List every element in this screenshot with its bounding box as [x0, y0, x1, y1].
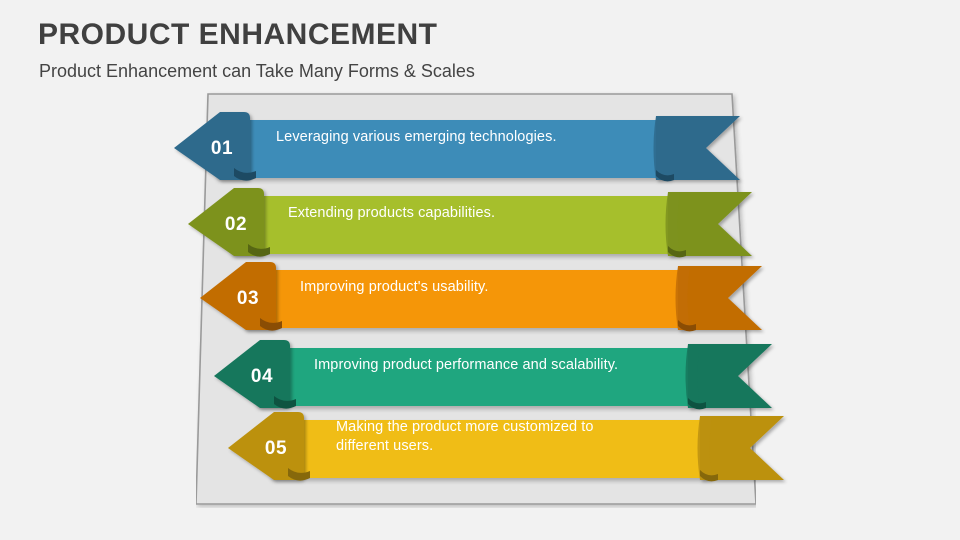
- ribbon-text: Improving product performance and scalab…: [314, 336, 690, 394]
- ribbon-number: 01: [172, 108, 258, 190]
- ribbon-number-badge[interactable]: 05: [226, 408, 312, 490]
- ribbon-row[interactable]: 04 Improving product performance and sca…: [212, 336, 760, 414]
- ribbon-row[interactable]: 03 Improving product's usability.: [198, 258, 752, 336]
- slide-canvas: PRODUCT ENHANCEMENT Product Enhancement …: [0, 0, 960, 540]
- ribbon-text: Leveraging various emerging technologies…: [276, 108, 662, 166]
- ribbon-number: 04: [212, 336, 298, 418]
- ribbon-number: 05: [226, 408, 312, 490]
- page-title: PRODUCT ENHANCEMENT: [38, 18, 438, 52]
- ribbon-number: 03: [198, 258, 284, 340]
- ribbon-number-badge[interactable]: 01: [172, 108, 258, 190]
- ribbon-text: Extending products capabilities.: [288, 184, 672, 242]
- ribbon-number-badge[interactable]: 02: [186, 184, 272, 266]
- ribbon-tail: [662, 184, 772, 268]
- ribbon-text: Improving product's usability.: [300, 258, 680, 316]
- ribbon-number: 02: [186, 184, 272, 266]
- page-subtitle: Product Enhancement can Take Many Forms …: [39, 61, 475, 82]
- ribbon-row[interactable]: 01 Leveraging various emerging technolog…: [172, 108, 748, 186]
- ribbon-tail: [694, 408, 804, 492]
- ribbon-tail: [672, 258, 782, 342]
- ribbon-row[interactable]: 05 Making the product more customized to…: [226, 408, 768, 486]
- ribbon-number-badge[interactable]: 03: [198, 258, 284, 340]
- ribbon-row[interactable]: 02 Extending products capabilities.: [186, 184, 744, 262]
- ribbon-tail: [650, 108, 760, 192]
- ribbon-number-badge[interactable]: 04: [212, 336, 298, 418]
- ribbon-text: Making the product more customized to di…: [336, 408, 702, 466]
